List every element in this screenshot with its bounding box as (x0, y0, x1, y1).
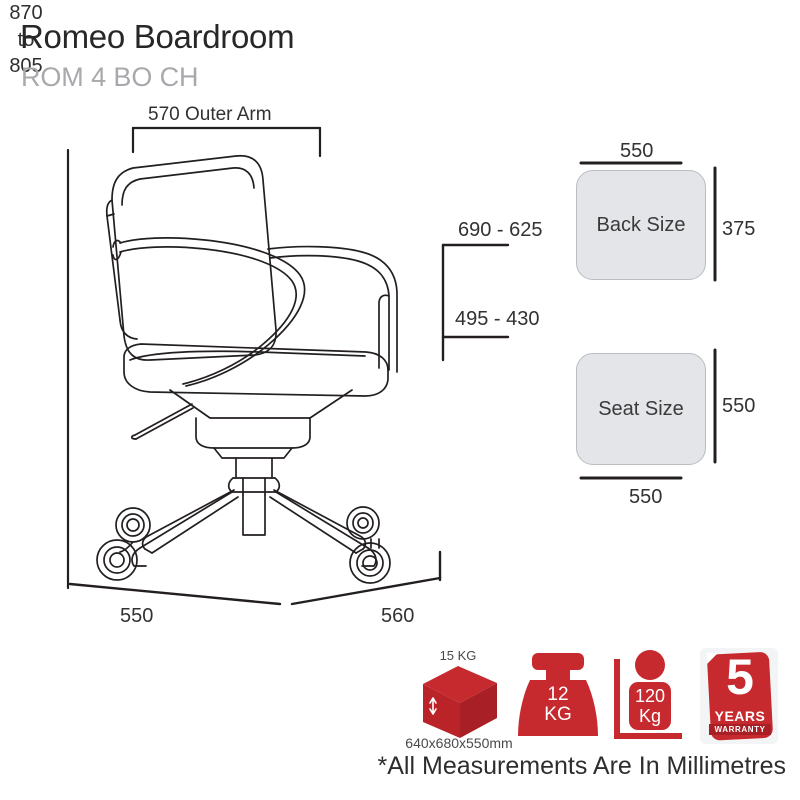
icon-row (0, 0, 800, 800)
warranty-years-label: YEARS (709, 708, 771, 724)
measurement-note: *All Measurements Are In Millimetres (0, 752, 786, 781)
weight-value-line2: KG (532, 704, 584, 726)
capacity-value-line1: 120 (629, 686, 671, 707)
weight-value-line1: 12 (532, 684, 584, 706)
warranty-years: 5 (709, 652, 771, 702)
carton-box-icon (423, 666, 497, 738)
capacity-value-line2: Kg (629, 706, 671, 727)
warranty-warranty-label: WARRANTY (709, 724, 771, 735)
specification-sheet: Romeo Boardroom ROM 4 BO CH (0, 0, 800, 800)
carton-dimensions-label: 640x680x550mm (396, 735, 522, 751)
